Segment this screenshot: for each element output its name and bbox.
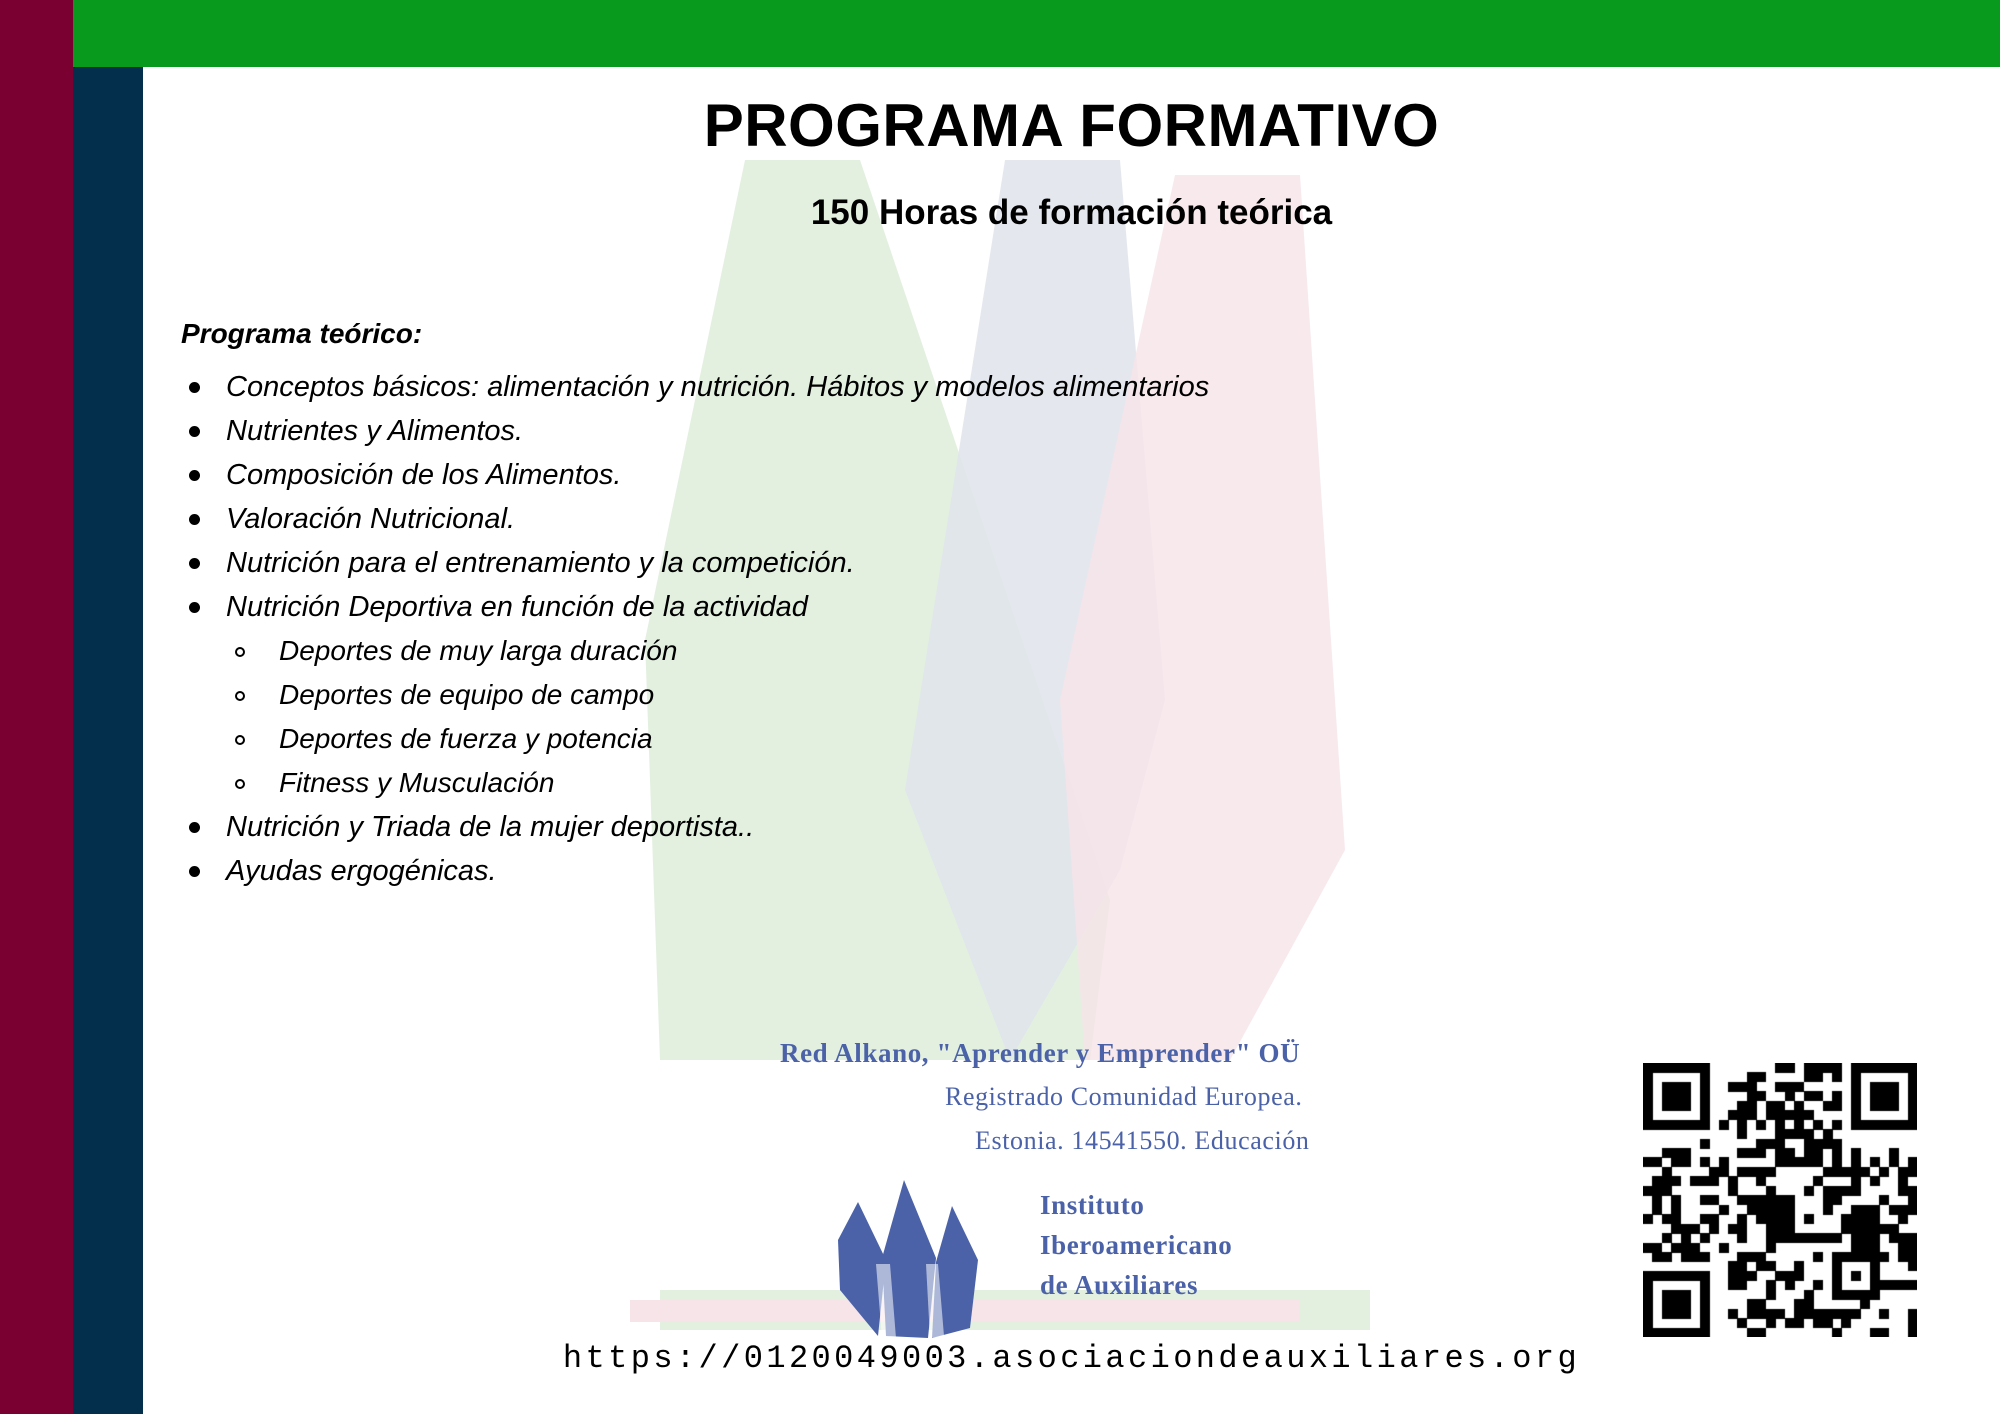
stamp-line-registry: Registrado Comunidad Europea. [945, 1082, 1303, 1112]
program-item: Composición de los Alimentos. [181, 461, 1481, 505]
bullet-disc-icon [189, 866, 200, 877]
bullet-disc-icon [189, 822, 200, 833]
program-item: Nutrientes y Alimentos. [181, 417, 1481, 461]
program-item-label: Deportes de muy larga duración [279, 637, 677, 665]
program-item-label: Nutrientes y Alimentos. [226, 417, 523, 446]
bullet-disc-icon [189, 426, 200, 437]
program-item-label: Nutrición Deportiva en función de la act… [226, 593, 808, 622]
bullet-disc-icon [189, 470, 200, 481]
program-item: Conceptos básicos: alimentación y nutric… [181, 373, 1481, 417]
stamp-line-inst-1: Instituto [1040, 1190, 1144, 1221]
program-sub-item: Deportes de fuerza y potencia [181, 725, 1481, 769]
program-item-label: Deportes de equipo de campo [279, 681, 654, 709]
program-item-label: Deportes de fuerza y potencia [279, 725, 653, 753]
program-item: Valoración Nutricional. [181, 505, 1481, 549]
bullet-hollow-icon [235, 779, 245, 789]
bullet-hollow-icon [235, 647, 245, 657]
program-item-label: Valoración Nutricional. [226, 505, 515, 534]
qr-code[interactable] [1643, 1063, 1917, 1337]
program-item-label: Nutrición para el entrenamiento y la com… [226, 549, 855, 578]
program-sub-item: Deportes de muy larga duración [181, 637, 1481, 681]
program-sub-item: Deportes de equipo de campo [181, 681, 1481, 725]
bullet-hollow-icon [235, 735, 245, 745]
poster-page: PROGRAMA FORMATIVO 150 Horas de formació… [0, 0, 2000, 1414]
page-title: PROGRAMA FORMATIVO [143, 94, 2000, 157]
stamp-line-inst-3: de Auxiliares [1040, 1270, 1198, 1301]
registration-stamp: Red Alkano, "Aprender y Emprender" OÜ Re… [760, 1030, 1400, 1330]
program-item: Nutrición y Triada de la mujer deportist… [181, 813, 1481, 857]
top-bar-green [73, 0, 2000, 67]
bullet-disc-icon [189, 558, 200, 569]
bullet-disc-icon [189, 602, 200, 613]
program-list: Conceptos básicos: alimentación y nutric… [181, 373, 1481, 901]
stamp-line-country: Estonia. 14541550. Educación [975, 1126, 1310, 1156]
program-sub-item: Fitness y Musculación [181, 769, 1481, 813]
stamp-line-inst-2: Iberoamericano [1040, 1230, 1232, 1261]
website-url[interactable]: https://0120049003.asociaciondeauxiliare… [143, 1340, 2000, 1377]
bullet-hollow-icon [235, 691, 245, 701]
program-item: Ayudas ergogénicas. [181, 857, 1481, 901]
page-subtitle: 150 Horas de formación teórica [143, 194, 2000, 233]
left-stripe-navy [73, 67, 143, 1414]
program-item-label: Fitness y Musculación [279, 769, 554, 797]
program-item: Nutrición Deportiva en función de la act… [181, 593, 1481, 637]
stamp-line-company: Red Alkano, "Aprender y Emprender" OÜ [780, 1038, 1300, 1069]
left-stripe-maroon [0, 0, 73, 1414]
program-item-label: Conceptos básicos: alimentación y nutric… [226, 373, 1209, 402]
program-item: Nutrición para el entrenamiento y la com… [181, 549, 1481, 593]
tulip-logo-icon [800, 1140, 1020, 1340]
program-item-label: Nutrición y Triada de la mujer deportist… [226, 813, 754, 842]
bullet-disc-icon [189, 514, 200, 525]
program-item-label: Composición de los Alimentos. [226, 461, 621, 490]
section-label: Programa teórico: [181, 318, 422, 350]
bullet-disc-icon [189, 382, 200, 393]
program-item-label: Ayudas ergogénicas. [226, 857, 497, 886]
